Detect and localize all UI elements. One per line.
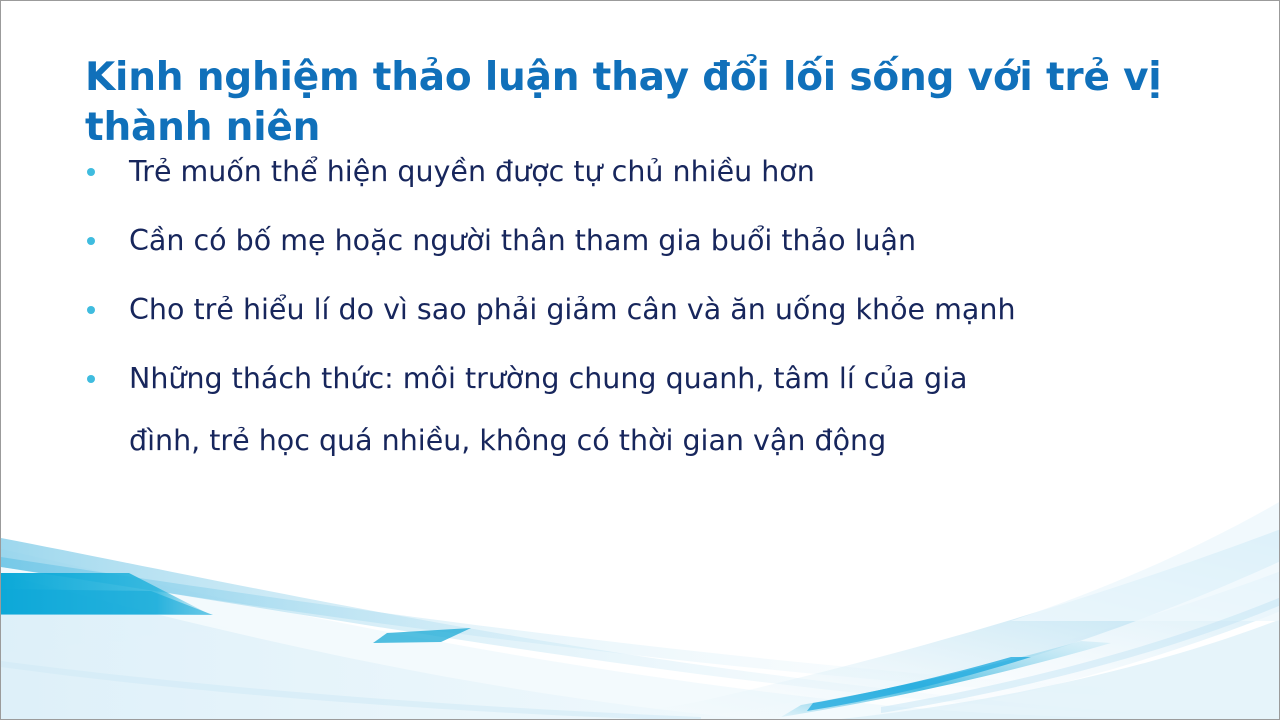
bullet-dot-icon	[87, 168, 95, 176]
bullet-text: Cần có bố mẹ hoặc người thân tham gia bu…	[129, 222, 1195, 260]
bullet-text: Trẻ muốn thể hiện quyền được tự chủ nhiề…	[129, 153, 1195, 191]
bullet-dot-icon	[87, 237, 95, 245]
list-item: Cho trẻ hiểu lí do vì sao phải giảm cân …	[85, 291, 1195, 329]
bullet-text: Những thách thức: môi trường chung quanh…	[129, 360, 1195, 398]
bullet-text-continuation: đình, trẻ học quá nhiều, không có thời g…	[129, 422, 1195, 460]
bullet-text: Cho trẻ hiểu lí do vì sao phải giảm cân …	[129, 291, 1195, 329]
slide-canvas: Kinh nghiệm thảo luận thay đổi lối sống …	[0, 0, 1280, 720]
list-item: Trẻ muốn thể hiện quyền được tự chủ nhiề…	[85, 153, 1195, 191]
list-item: Cần có bố mẹ hoặc người thân tham gia bu…	[85, 222, 1195, 260]
list-item: Những thách thức: môi trường chung quanh…	[85, 360, 1195, 460]
bullet-list: Trẻ muốn thể hiện quyền được tự chủ nhiề…	[85, 153, 1195, 459]
bullet-dot-icon	[87, 306, 95, 314]
bullet-dot-icon	[87, 375, 95, 383]
slide-title: Kinh nghiệm thảo luận thay đổi lối sống …	[85, 53, 1175, 153]
